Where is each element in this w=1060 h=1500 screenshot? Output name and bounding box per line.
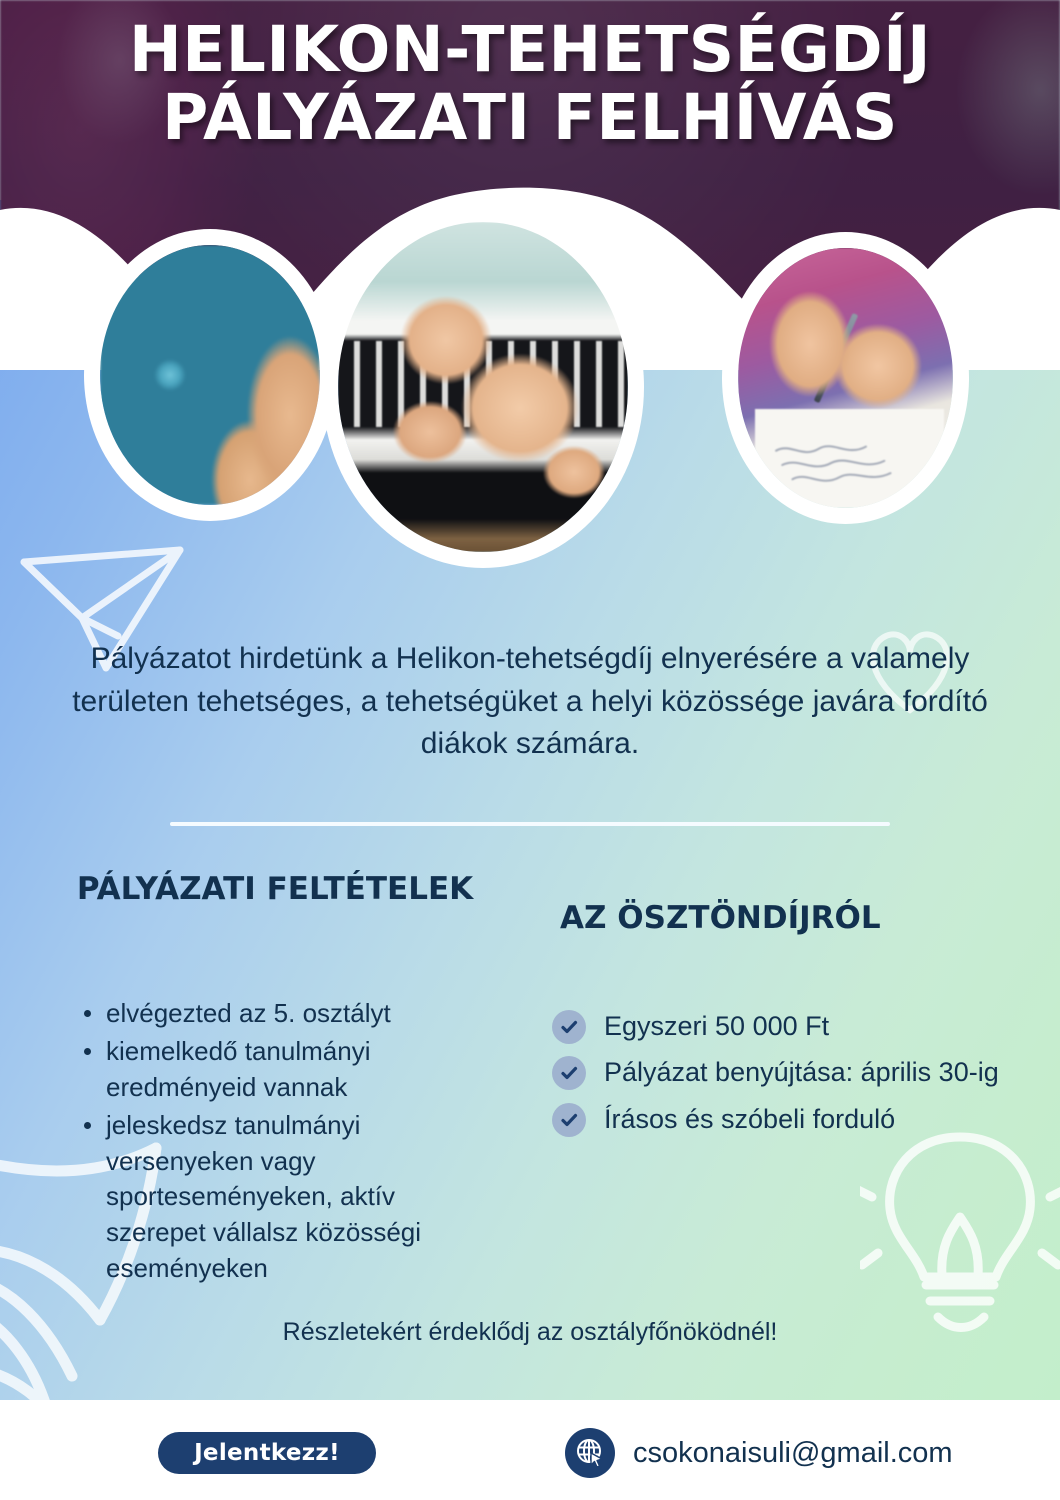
list-item: Pályázat benyújtása: április 30-ig (552, 1054, 1022, 1090)
check-icon (552, 1010, 586, 1044)
list-item: kiemelkedő tanulmányi eredményeid vannak (70, 1034, 490, 1106)
poster-root: HELIKON-TEHETSÉGDÍJ PÁLYÁZATI FELHÍVÁS (0, 0, 1060, 1500)
beading-craft-photo (100, 245, 320, 505)
handwriting-scribble (772, 440, 935, 492)
contact-email[interactable]: csokonaisuli@gmail.com (633, 1437, 953, 1470)
check-icon (552, 1056, 586, 1090)
apply-button[interactable]: Jelentkezz! (158, 1432, 376, 1474)
section-divider (170, 822, 890, 826)
list-item-label: Egyszeri 50 000 Ft (604, 1011, 829, 1041)
list-item: Egyszeri 50 000 Ft (552, 1008, 1022, 1044)
contact-block: csokonaisuli@gmail.com (565, 1428, 953, 1478)
piano-hands-photo (338, 222, 628, 552)
footnote-text: Részletekért érdeklődj az osztályfőnököd… (60, 1318, 1000, 1347)
intro-paragraph: Pályázatot hirdetünk a Helikon-tehetségd… (70, 638, 990, 766)
right-column-heading: AZ ÖSZTÖNDÍJRÓL (560, 895, 990, 942)
scholarship-details-list: Egyszeri 50 000 Ft Pályázat benyújtása: … (552, 1008, 1022, 1147)
list-item: Írásos és szóbeli forduló (552, 1101, 1022, 1137)
beading-craft-image (100, 245, 320, 505)
page-title: HELIKON-TEHETSÉGDÍJ PÁLYÁZATI FELHÍVÁS (0, 16, 1060, 152)
eligibility-list: elvégezted az 5. osztályt kiemelkedő tan… (70, 996, 490, 1289)
globe-cursor-icon (565, 1428, 615, 1478)
writing-hands-image (738, 248, 953, 508)
list-item-label: Írásos és szóbeli forduló (604, 1104, 895, 1134)
list-item-label: Pályázat benyújtása: április 30-ig (604, 1057, 999, 1087)
piano-hands-image (338, 222, 628, 552)
left-column-heading: PÁLYÁZATI FELTÉTELEK (60, 866, 490, 913)
list-item: jeleskedsz tanulmányi versenyeken vagy s… (70, 1108, 490, 1287)
writing-hands-photo (738, 248, 953, 508)
pen-shape (813, 313, 858, 403)
list-item: elvégezted az 5. osztályt (70, 996, 490, 1032)
check-icon (552, 1103, 586, 1137)
title-line-2: PÁLYÁZATI FELHÍVÁS (0, 84, 1060, 152)
title-line-1: HELIKON-TEHETSÉGDÍJ (0, 16, 1060, 84)
